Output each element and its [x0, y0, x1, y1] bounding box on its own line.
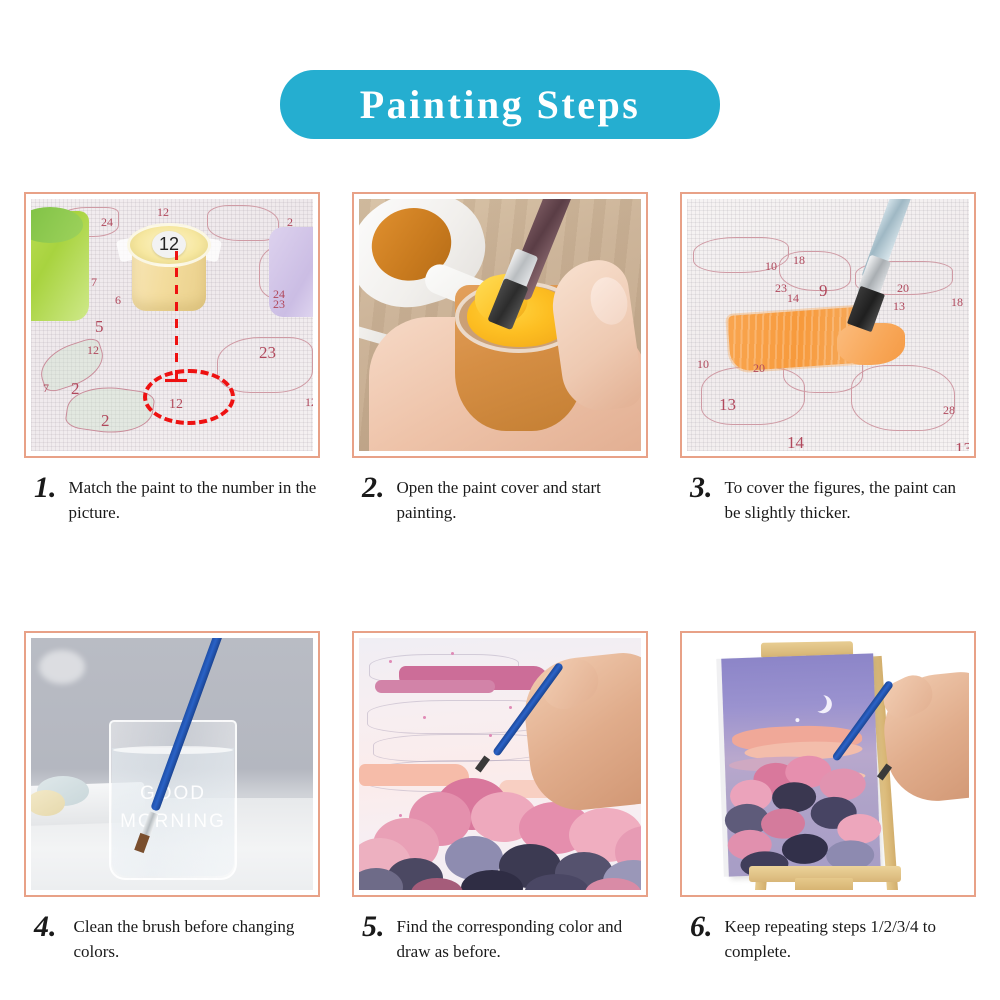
blossom-cluster — [819, 768, 866, 802]
glass-printed-text: GOOD MORNING — [111, 780, 235, 835]
step-number-1: 1. — [34, 472, 57, 503]
step-number-3: 3. — [690, 472, 713, 503]
canvas-number: 20 — [897, 281, 909, 296]
glass-text-line-2: MORNING — [111, 808, 235, 836]
canvas-number: 24 — [101, 215, 113, 230]
step-text-1: Match the paint to the number in the pic… — [69, 472, 321, 525]
painted-magenta-band — [375, 680, 495, 693]
step-image-4: GOOD MORNING — [31, 638, 313, 890]
canvas-number: 20 — [753, 361, 765, 376]
canvas-number: 13 — [893, 299, 905, 314]
canvas-number: 7 — [43, 381, 49, 396]
canvas-number: 12 — [305, 395, 313, 410]
step-text-3: To cover the figures, the paint can be s… — [725, 472, 977, 525]
banner-container: Painting Steps — [0, 70, 1000, 139]
canvas-number: 2 — [287, 215, 293, 230]
photo-frame-6 — [680, 631, 976, 897]
canvas-number: 18 — [951, 295, 963, 310]
canvas-number: 14 — [787, 291, 799, 306]
crescent-moon — [809, 693, 828, 712]
photo-frame-1: 12 12 12 24 2 7 6 5 23 12 2 — [24, 192, 320, 458]
star — [795, 718, 799, 722]
step-text-6: Keep repeating steps 1/2/3/4 to complete… — [725, 911, 977, 964]
step-image-3: 10 18 23 9 14 20 13 13 18 20 10 28 14 13 — [687, 199, 969, 451]
step-caption-5: 5. Find the corresponding color and draw… — [352, 911, 648, 964]
canvas-number: 12 — [157, 205, 169, 220]
canvas-number: 2 — [71, 379, 80, 399]
photo-frame-5 — [352, 631, 648, 897]
blossom-dark-foliage — [781, 833, 828, 865]
painted-cherry-blossoms — [723, 752, 883, 877]
step-number-6: 6. — [690, 911, 713, 942]
canvas-number: 23 — [259, 343, 276, 363]
finished-painting-canvas — [721, 654, 881, 877]
canvas-outline — [779, 251, 851, 291]
step-caption-3: 3. To cover the figures, the paint can b… — [680, 472, 976, 525]
step-number-5: 5. — [362, 911, 385, 942]
canvas-number: 10 — [765, 259, 777, 274]
glass-text-line-1: GOOD — [111, 780, 235, 808]
canvas-outline — [207, 205, 279, 241]
canvas-number: 10 — [697, 357, 709, 372]
step-card-4: GOOD MORNING 4. Clean the brush before c… — [24, 631, 320, 964]
easel-tray-support — [795, 878, 853, 890]
step-image-1: 12 12 12 24 2 7 6 5 23 12 2 — [31, 199, 313, 451]
step-image-5 — [359, 638, 641, 890]
steps-grid: 12 12 12 24 2 7 6 5 23 12 2 — [24, 192, 976, 965]
step-text-5: Find the corresponding color and draw as… — [397, 911, 649, 964]
step-card-6: 6. Keep repeating steps 1/2/3/4 to compl… — [680, 631, 976, 964]
photo-frame-3: 10 18 23 9 14 20 13 13 18 20 10 28 14 13 — [680, 192, 976, 458]
step-image-2 — [359, 199, 641, 451]
step-card-5: 5. Find the corresponding color and draw… — [352, 631, 648, 964]
page-title: Painting Steps — [360, 81, 641, 128]
canvas-number: 13 — [719, 395, 736, 415]
canvas-number-callout: 12 — [169, 397, 183, 413]
step-caption-6: 6. Keep repeating steps 1/2/3/4 to compl… — [680, 911, 976, 964]
step-text-4: Clean the brush before changing colors. — [74, 911, 321, 964]
title-banner: Painting Steps — [280, 70, 720, 139]
step-caption-1: 1. Match the paint to the number in the … — [24, 472, 320, 525]
canvas-number: 18 — [793, 253, 805, 268]
step-caption-2: 2. Open the paint cover and start painti… — [352, 472, 648, 525]
match-dashed-line — [175, 251, 178, 385]
canvas-number: 28 — [943, 403, 955, 418]
step-number-4: 4. — [34, 911, 57, 942]
canvas-number: 2 — [101, 411, 110, 431]
step-card-1: 12 12 12 24 2 7 6 5 23 12 2 — [24, 192, 320, 525]
yellow-paint-pot: 12 — [124, 217, 214, 313]
canvas-number: 23 — [273, 297, 285, 312]
canvas-number: 9 — [819, 281, 828, 301]
canvas-number: 6 — [115, 293, 121, 308]
canvas-outline — [851, 365, 955, 431]
step-caption-4: 4. Clean the brush before changing color… — [24, 911, 320, 964]
step-text-2: Open the paint cover and start painting. — [397, 472, 649, 525]
canvas-number: 7 — [91, 275, 97, 290]
step-image-6 — [687, 638, 969, 890]
canvas-number: 13 — [955, 439, 969, 451]
canvas-number: 23 — [775, 281, 787, 296]
canvas-number: 5 — [95, 317, 104, 337]
step-card-3: 10 18 23 9 14 20 13 13 18 20 10 28 14 13 — [680, 192, 976, 525]
photo-frame-4: GOOD MORNING — [24, 631, 320, 897]
canvas-number: 14 — [787, 433, 804, 451]
step-card-2: 2. Open the paint cover and start painti… — [352, 192, 648, 525]
painting-steps-infographic: Painting Steps — [0, 0, 1000, 1000]
match-dashed-ellipse — [143, 369, 235, 425]
photo-frame-2 — [352, 192, 648, 458]
pot-number-label: 12 — [152, 231, 186, 258]
step-number-2: 2. — [362, 472, 385, 503]
canvas-number: 12 — [87, 343, 99, 358]
